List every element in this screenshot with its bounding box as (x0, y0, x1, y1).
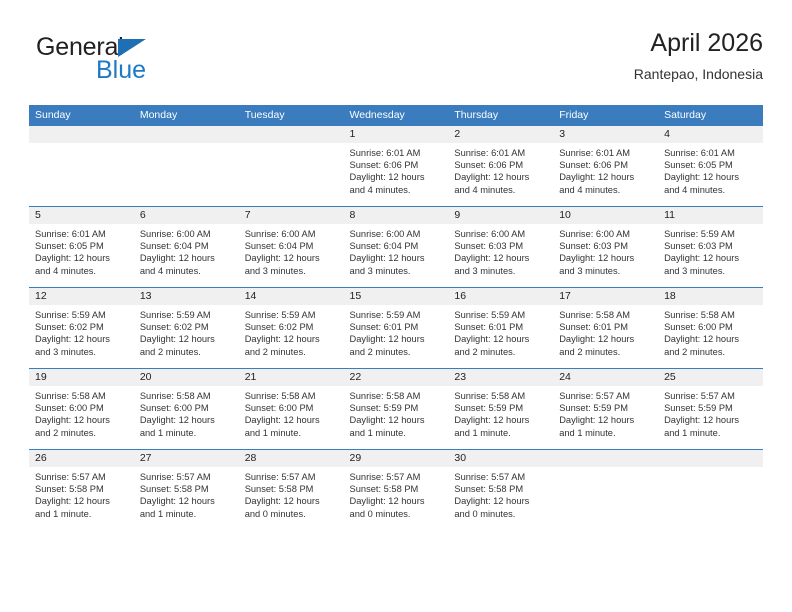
day-number: 9 (448, 207, 553, 224)
calendar-day-cell[interactable]: 9Sunrise: 6:00 AMSunset: 6:03 PMDaylight… (448, 207, 553, 288)
day-cell-content: 30Sunrise: 5:57 AMSunset: 5:58 PMDayligh… (448, 450, 553, 530)
day-cell-content: 4Sunrise: 6:01 AMSunset: 6:05 PMDaylight… (658, 126, 763, 206)
day-number: 11 (658, 207, 763, 224)
day-sun-info: Sunrise: 5:59 AMSunset: 6:02 PMDaylight:… (239, 305, 344, 358)
sunset-time: Sunset: 6:03 PM (664, 240, 756, 252)
page-title: April 2026 (634, 28, 763, 58)
day-sun-info: Sunrise: 6:01 AMSunset: 6:06 PMDaylight:… (344, 143, 449, 196)
daylight-duration-line1: Daylight: 12 hours (559, 333, 651, 345)
daylight-duration-line2: and 2 minutes. (350, 346, 442, 358)
daylight-duration-line1: Daylight: 12 hours (664, 333, 756, 345)
day-sun-info: Sunrise: 5:58 AMSunset: 6:00 PMDaylight:… (29, 386, 134, 439)
day-number: 25 (658, 369, 763, 386)
day-cell-content: 7Sunrise: 6:00 AMSunset: 6:04 PMDaylight… (239, 207, 344, 287)
sunset-time: Sunset: 5:58 PM (350, 483, 442, 495)
sunset-time: Sunset: 6:00 PM (35, 402, 127, 414)
calendar-day-cell[interactable]: 28Sunrise: 5:57 AMSunset: 5:58 PMDayligh… (239, 450, 344, 531)
sunset-time: Sunset: 6:04 PM (350, 240, 442, 252)
day-cell-content: 16Sunrise: 5:59 AMSunset: 6:01 PMDayligh… (448, 288, 553, 368)
sunset-time: Sunset: 6:03 PM (454, 240, 546, 252)
logo-text-blue: Blue (96, 57, 146, 83)
daylight-duration-line1: Daylight: 12 hours (350, 495, 442, 507)
day-cell-content: 14Sunrise: 5:59 AMSunset: 6:02 PMDayligh… (239, 288, 344, 368)
calendar-day-cell[interactable]: 1Sunrise: 6:01 AMSunset: 6:06 PMDaylight… (344, 126, 449, 207)
day-number: 19 (29, 369, 134, 386)
day-sun-info: Sunrise: 6:01 AMSunset: 6:05 PMDaylight:… (29, 224, 134, 277)
day-cell-content: 13Sunrise: 5:59 AMSunset: 6:02 PMDayligh… (134, 288, 239, 368)
day-sun-info: Sunrise: 6:00 AMSunset: 6:04 PMDaylight:… (239, 224, 344, 277)
sunset-time: Sunset: 5:59 PM (350, 402, 442, 414)
day-number: 26 (29, 450, 134, 467)
day-cell-content: 22Sunrise: 5:58 AMSunset: 5:59 PMDayligh… (344, 369, 449, 449)
sunrise-time: Sunrise: 6:00 AM (245, 228, 337, 240)
daylight-duration-line1: Daylight: 12 hours (245, 333, 337, 345)
day-cell-content: 23Sunrise: 5:58 AMSunset: 5:59 PMDayligh… (448, 369, 553, 449)
daylight-duration-line1: Daylight: 12 hours (245, 414, 337, 426)
day-number: 28 (239, 450, 344, 467)
daylight-duration-line2: and 4 minutes. (140, 265, 232, 277)
daylight-duration-line2: and 1 minute. (664, 427, 756, 439)
daylight-duration-line2: and 3 minutes. (245, 265, 337, 277)
calendar-day-cell[interactable]: 25Sunrise: 5:57 AMSunset: 5:59 PMDayligh… (658, 369, 763, 450)
daylight-duration-line2: and 4 minutes. (454, 184, 546, 196)
day-cell-content: 8Sunrise: 6:00 AMSunset: 6:04 PMDaylight… (344, 207, 449, 287)
sunrise-time: Sunrise: 6:01 AM (350, 147, 442, 159)
day-sun-info: Sunrise: 5:58 AMSunset: 6:00 PMDaylight:… (239, 386, 344, 439)
daylight-duration-line1: Daylight: 12 hours (454, 333, 546, 345)
day-sun-info: Sunrise: 5:57 AMSunset: 5:59 PMDaylight:… (658, 386, 763, 439)
sunrise-time: Sunrise: 5:58 AM (35, 390, 127, 402)
calendar-day-cell[interactable]: 10Sunrise: 6:00 AMSunset: 6:03 PMDayligh… (553, 207, 658, 288)
daylight-duration-line1: Daylight: 12 hours (454, 171, 546, 183)
day-cell-content: 19Sunrise: 5:58 AMSunset: 6:00 PMDayligh… (29, 369, 134, 449)
day-number: 30 (448, 450, 553, 467)
daylight-duration-line2: and 2 minutes. (454, 346, 546, 358)
daylight-duration-line1: Daylight: 12 hours (35, 252, 127, 264)
day-number: 12 (29, 288, 134, 305)
calendar-day-cell[interactable]: 8Sunrise: 6:00 AMSunset: 6:04 PMDaylight… (344, 207, 449, 288)
calendar-header-row-group: Sunday Monday Tuesday Wednesday Thursday… (29, 105, 763, 126)
day-cell-content (134, 126, 239, 206)
daylight-duration-line1: Daylight: 12 hours (140, 414, 232, 426)
daylight-duration-line1: Daylight: 12 hours (35, 333, 127, 345)
sunrise-time: Sunrise: 5:57 AM (350, 471, 442, 483)
page-header: General Blue April 2026 Rantepao, Indone… (29, 28, 763, 100)
sunset-time: Sunset: 6:03 PM (559, 240, 651, 252)
sunset-time: Sunset: 6:00 PM (664, 321, 756, 333)
daylight-duration-line1: Daylight: 12 hours (35, 495, 127, 507)
sunrise-time: Sunrise: 5:59 AM (35, 309, 127, 321)
calendar-day-cell[interactable]: 30Sunrise: 5:57 AMSunset: 5:58 PMDayligh… (448, 450, 553, 531)
sunrise-time: Sunrise: 6:01 AM (664, 147, 756, 159)
calendar-week-row: 26Sunrise: 5:57 AMSunset: 5:58 PMDayligh… (29, 450, 763, 531)
day-cell-content (553, 450, 658, 530)
weekday-header-row: Sunday Monday Tuesday Wednesday Thursday… (29, 105, 763, 126)
daylight-duration-line1: Daylight: 12 hours (454, 495, 546, 507)
daylight-duration-line2: and 2 minutes. (35, 427, 127, 439)
daylight-duration-line2: and 3 minutes. (664, 265, 756, 277)
sunrise-time: Sunrise: 5:59 AM (664, 228, 756, 240)
day-number: 18 (658, 288, 763, 305)
sunrise-time: Sunrise: 5:59 AM (454, 309, 546, 321)
sunrise-time: Sunrise: 5:59 AM (140, 309, 232, 321)
calendar-week-row: 5Sunrise: 6:01 AMSunset: 6:05 PMDaylight… (29, 207, 763, 288)
day-sun-info: Sunrise: 5:57 AMSunset: 5:58 PMDaylight:… (239, 467, 344, 520)
day-cell-content: 6Sunrise: 6:00 AMSunset: 6:04 PMDaylight… (134, 207, 239, 287)
day-cell-content: 11Sunrise: 5:59 AMSunset: 6:03 PMDayligh… (658, 207, 763, 287)
sunrise-time: Sunrise: 5:57 AM (140, 471, 232, 483)
sunset-time: Sunset: 6:00 PM (245, 402, 337, 414)
sunrise-time: Sunrise: 6:01 AM (454, 147, 546, 159)
calendar-week-row: 19Sunrise: 5:58 AMSunset: 6:00 PMDayligh… (29, 369, 763, 450)
calendar-day-cell[interactable]: 17Sunrise: 5:58 AMSunset: 6:01 PMDayligh… (553, 288, 658, 369)
sunset-time: Sunset: 6:06 PM (454, 159, 546, 171)
day-sun-info: Sunrise: 5:57 AMSunset: 5:58 PMDaylight:… (29, 467, 134, 520)
day-sun-info: Sunrise: 6:00 AMSunset: 6:04 PMDaylight:… (134, 224, 239, 277)
calendar-day-cell[interactable]: 18Sunrise: 5:58 AMSunset: 6:00 PMDayligh… (658, 288, 763, 369)
day-cell-content: 18Sunrise: 5:58 AMSunset: 6:00 PMDayligh… (658, 288, 763, 368)
sunrise-time: Sunrise: 6:01 AM (559, 147, 651, 159)
day-sun-info: Sunrise: 6:01 AMSunset: 6:06 PMDaylight:… (553, 143, 658, 196)
calendar-day-cell[interactable]: 13Sunrise: 5:59 AMSunset: 6:02 PMDayligh… (134, 288, 239, 369)
day-sun-info: Sunrise: 5:58 AMSunset: 6:01 PMDaylight:… (553, 305, 658, 358)
sunrise-time: Sunrise: 5:58 AM (664, 309, 756, 321)
day-number (239, 126, 344, 143)
day-cell-content: 20Sunrise: 5:58 AMSunset: 6:00 PMDayligh… (134, 369, 239, 449)
day-sun-info: Sunrise: 5:58 AMSunset: 5:59 PMDaylight:… (448, 386, 553, 439)
daylight-duration-line1: Daylight: 12 hours (350, 252, 442, 264)
day-number: 21 (239, 369, 344, 386)
title-block: April 2026 Rantepao, Indonesia (634, 28, 763, 84)
day-sun-info (134, 143, 239, 147)
day-number: 22 (344, 369, 449, 386)
day-cell-content: 21Sunrise: 5:58 AMSunset: 6:00 PMDayligh… (239, 369, 344, 449)
day-sun-info: Sunrise: 6:00 AMSunset: 6:04 PMDaylight:… (344, 224, 449, 277)
sunrise-time: Sunrise: 6:01 AM (35, 228, 127, 240)
day-cell-content: 1Sunrise: 6:01 AMSunset: 6:06 PMDaylight… (344, 126, 449, 206)
weekday-header-saturday: Saturday (658, 105, 763, 126)
sunset-time: Sunset: 5:59 PM (454, 402, 546, 414)
calendar-day-cell[interactable]: 19Sunrise: 5:58 AMSunset: 6:00 PMDayligh… (29, 369, 134, 450)
day-cell-content: 24Sunrise: 5:57 AMSunset: 5:59 PMDayligh… (553, 369, 658, 449)
sunrise-time: Sunrise: 5:57 AM (245, 471, 337, 483)
sunrise-time: Sunrise: 5:57 AM (664, 390, 756, 402)
daylight-duration-line2: and 4 minutes. (559, 184, 651, 196)
sunset-time: Sunset: 5:58 PM (454, 483, 546, 495)
day-sun-info (29, 143, 134, 147)
day-number: 13 (134, 288, 239, 305)
day-sun-info: Sunrise: 5:59 AMSunset: 6:02 PMDaylight:… (134, 305, 239, 358)
sunset-time: Sunset: 5:58 PM (245, 483, 337, 495)
weekday-header-monday: Monday (134, 105, 239, 126)
day-cell-content (239, 126, 344, 206)
day-sun-info: Sunrise: 5:59 AMSunset: 6:01 PMDaylight:… (344, 305, 449, 358)
calendar-day-cell[interactable]: 2Sunrise: 6:01 AMSunset: 6:06 PMDaylight… (448, 126, 553, 207)
calendar-day-cell[interactable]: 6Sunrise: 6:00 AMSunset: 6:04 PMDaylight… (134, 207, 239, 288)
calendar-day-cell[interactable]: 4Sunrise: 6:01 AMSunset: 6:05 PMDaylight… (658, 126, 763, 207)
sunset-time: Sunset: 6:06 PM (559, 159, 651, 171)
day-number: 17 (553, 288, 658, 305)
sunrise-time: Sunrise: 5:57 AM (454, 471, 546, 483)
day-number: 23 (448, 369, 553, 386)
calendar-day-cell (658, 450, 763, 531)
sunset-time: Sunset: 5:58 PM (140, 483, 232, 495)
day-sun-info (553, 467, 658, 471)
day-sun-info: Sunrise: 5:58 AMSunset: 6:00 PMDaylight:… (658, 305, 763, 358)
day-number: 14 (239, 288, 344, 305)
day-cell-content: 15Sunrise: 5:59 AMSunset: 6:01 PMDayligh… (344, 288, 449, 368)
day-cell-content: 26Sunrise: 5:57 AMSunset: 5:58 PMDayligh… (29, 450, 134, 530)
weekday-header-sunday: Sunday (29, 105, 134, 126)
calendar-day-cell[interactable]: 14Sunrise: 5:59 AMSunset: 6:02 PMDayligh… (239, 288, 344, 369)
sunset-time: Sunset: 5:58 PM (35, 483, 127, 495)
daylight-duration-line1: Daylight: 12 hours (35, 414, 127, 426)
sunset-time: Sunset: 6:02 PM (245, 321, 337, 333)
logo-triangle-icon (118, 39, 146, 57)
daylight-duration-line1: Daylight: 12 hours (454, 252, 546, 264)
calendar-day-cell[interactable]: 26Sunrise: 5:57 AMSunset: 5:58 PMDayligh… (29, 450, 134, 531)
calendar-day-cell (239, 126, 344, 207)
day-number (553, 450, 658, 467)
day-sun-info: Sunrise: 6:00 AMSunset: 6:03 PMDaylight:… (448, 224, 553, 277)
calendar-page: General Blue April 2026 Rantepao, Indone… (0, 0, 792, 612)
day-sun-info: Sunrise: 5:57 AMSunset: 5:59 PMDaylight:… (553, 386, 658, 439)
calendar-day-cell[interactable]: 15Sunrise: 5:59 AMSunset: 6:01 PMDayligh… (344, 288, 449, 369)
day-cell-content: 27Sunrise: 5:57 AMSunset: 5:58 PMDayligh… (134, 450, 239, 530)
sunrise-time: Sunrise: 6:00 AM (454, 228, 546, 240)
day-number: 8 (344, 207, 449, 224)
daylight-duration-line2: and 4 minutes. (664, 184, 756, 196)
calendar-day-cell[interactable]: 23Sunrise: 5:58 AMSunset: 5:59 PMDayligh… (448, 369, 553, 450)
sunset-time: Sunset: 5:59 PM (664, 402, 756, 414)
daylight-duration-line2: and 0 minutes. (245, 508, 337, 520)
calendar-day-cell[interactable]: 22Sunrise: 5:58 AMSunset: 5:59 PMDayligh… (344, 369, 449, 450)
general-blue-logo[interactable]: General Blue (36, 34, 236, 90)
day-sun-info: Sunrise: 5:57 AMSunset: 5:58 PMDaylight:… (134, 467, 239, 520)
sunrise-time: Sunrise: 5:58 AM (140, 390, 232, 402)
sunrise-time: Sunrise: 5:58 AM (350, 390, 442, 402)
day-sun-info: Sunrise: 5:58 AMSunset: 6:00 PMDaylight:… (134, 386, 239, 439)
sunrise-time: Sunrise: 5:58 AM (559, 309, 651, 321)
daylight-duration-line1: Daylight: 12 hours (350, 414, 442, 426)
sunset-time: Sunset: 6:01 PM (454, 321, 546, 333)
calendar-day-cell[interactable]: 29Sunrise: 5:57 AMSunset: 5:58 PMDayligh… (344, 450, 449, 531)
daylight-duration-line1: Daylight: 12 hours (664, 252, 756, 264)
sunset-time: Sunset: 6:02 PM (35, 321, 127, 333)
daylight-duration-line2: and 1 minute. (140, 427, 232, 439)
day-number: 15 (344, 288, 449, 305)
sunset-time: Sunset: 5:59 PM (559, 402, 651, 414)
day-sun-info: Sunrise: 5:59 AMSunset: 6:02 PMDaylight:… (29, 305, 134, 358)
weekday-header-tuesday: Tuesday (239, 105, 344, 126)
daylight-duration-line2: and 2 minutes. (559, 346, 651, 358)
sunset-time: Sunset: 6:04 PM (140, 240, 232, 252)
daylight-duration-line1: Daylight: 12 hours (350, 333, 442, 345)
sunset-time: Sunset: 6:06 PM (350, 159, 442, 171)
day-cell-content: 17Sunrise: 5:58 AMSunset: 6:01 PMDayligh… (553, 288, 658, 368)
daylight-duration-line1: Daylight: 12 hours (559, 414, 651, 426)
sunrise-sunset-calendar-table: Sunday Monday Tuesday Wednesday Thursday… (29, 105, 763, 530)
sunrise-time: Sunrise: 6:00 AM (350, 228, 442, 240)
daylight-duration-line1: Daylight: 12 hours (140, 333, 232, 345)
day-sun-info: Sunrise: 5:59 AMSunset: 6:03 PMDaylight:… (658, 224, 763, 277)
daylight-duration-line1: Daylight: 12 hours (559, 252, 651, 264)
calendar-day-cell[interactable]: 20Sunrise: 5:58 AMSunset: 6:00 PMDayligh… (134, 369, 239, 450)
sunrise-time: Sunrise: 5:58 AM (454, 390, 546, 402)
calendar-day-cell[interactable]: 21Sunrise: 5:58 AMSunset: 6:00 PMDayligh… (239, 369, 344, 450)
day-number: 3 (553, 126, 658, 143)
day-cell-content: 5Sunrise: 6:01 AMSunset: 6:05 PMDaylight… (29, 207, 134, 287)
calendar-week-row: 1Sunrise: 6:01 AMSunset: 6:06 PMDaylight… (29, 126, 763, 207)
sunset-time: Sunset: 6:05 PM (35, 240, 127, 252)
day-sun-info: Sunrise: 5:57 AMSunset: 5:58 PMDaylight:… (448, 467, 553, 520)
day-number: 2 (448, 126, 553, 143)
weekday-header-friday: Friday (553, 105, 658, 126)
calendar-day-cell[interactable]: 27Sunrise: 5:57 AMSunset: 5:58 PMDayligh… (134, 450, 239, 531)
daylight-duration-line2: and 0 minutes. (454, 508, 546, 520)
day-number: 7 (239, 207, 344, 224)
day-cell-content: 28Sunrise: 5:57 AMSunset: 5:58 PMDayligh… (239, 450, 344, 530)
day-sun-info: Sunrise: 6:01 AMSunset: 6:05 PMDaylight:… (658, 143, 763, 196)
day-number: 4 (658, 126, 763, 143)
daylight-duration-line2: and 2 minutes. (140, 346, 232, 358)
day-sun-info (239, 143, 344, 147)
calendar-day-cell[interactable]: 12Sunrise: 5:59 AMSunset: 6:02 PMDayligh… (29, 288, 134, 369)
day-number: 6 (134, 207, 239, 224)
calendar-day-cell[interactable]: 11Sunrise: 5:59 AMSunset: 6:03 PMDayligh… (658, 207, 763, 288)
daylight-duration-line2: and 3 minutes. (559, 265, 651, 277)
day-sun-info: Sunrise: 5:59 AMSunset: 6:01 PMDaylight:… (448, 305, 553, 358)
day-cell-content: 12Sunrise: 5:59 AMSunset: 6:02 PMDayligh… (29, 288, 134, 368)
day-number (658, 450, 763, 467)
daylight-duration-line1: Daylight: 12 hours (140, 495, 232, 507)
sunrise-time: Sunrise: 5:57 AM (559, 390, 651, 402)
page-subtitle-location: Rantepao, Indonesia (634, 64, 763, 84)
day-cell-content: 10Sunrise: 6:00 AMSunset: 6:03 PMDayligh… (553, 207, 658, 287)
day-cell-content: 3Sunrise: 6:01 AMSunset: 6:06 PMDaylight… (553, 126, 658, 206)
daylight-duration-line2: and 3 minutes. (350, 265, 442, 277)
daylight-duration-line2: and 0 minutes. (350, 508, 442, 520)
daylight-duration-line1: Daylight: 12 hours (454, 414, 546, 426)
day-cell-content: 25Sunrise: 5:57 AMSunset: 5:59 PMDayligh… (658, 369, 763, 449)
day-sun-info: Sunrise: 5:58 AMSunset: 5:59 PMDaylight:… (344, 386, 449, 439)
sunrise-time: Sunrise: 5:59 AM (350, 309, 442, 321)
sunset-time: Sunset: 6:02 PM (140, 321, 232, 333)
day-number: 5 (29, 207, 134, 224)
day-sun-info: Sunrise: 5:57 AMSunset: 5:58 PMDaylight:… (344, 467, 449, 520)
daylight-duration-line2: and 2 minutes. (664, 346, 756, 358)
daylight-duration-line2: and 3 minutes. (454, 265, 546, 277)
daylight-duration-line2: and 1 minute. (454, 427, 546, 439)
day-number: 1 (344, 126, 449, 143)
daylight-duration-line1: Daylight: 12 hours (245, 495, 337, 507)
weekday-header-thursday: Thursday (448, 105, 553, 126)
calendar-day-cell[interactable]: 24Sunrise: 5:57 AMSunset: 5:59 PMDayligh… (553, 369, 658, 450)
calendar-day-cell[interactable]: 7Sunrise: 6:00 AMSunset: 6:04 PMDaylight… (239, 207, 344, 288)
sunset-time: Sunset: 6:01 PM (559, 321, 651, 333)
weekday-header-wednesday: Wednesday (344, 105, 449, 126)
day-number (29, 126, 134, 143)
day-number: 16 (448, 288, 553, 305)
sunrise-time: Sunrise: 5:58 AM (245, 390, 337, 402)
sunset-time: Sunset: 6:04 PM (245, 240, 337, 252)
daylight-duration-line2: and 1 minute. (35, 508, 127, 520)
calendar-day-cell (29, 126, 134, 207)
calendar-day-cell (553, 450, 658, 531)
daylight-duration-line1: Daylight: 12 hours (664, 171, 756, 183)
sunrise-time: Sunrise: 5:57 AM (35, 471, 127, 483)
day-sun-info: Sunrise: 6:00 AMSunset: 6:03 PMDaylight:… (553, 224, 658, 277)
calendar-day-cell[interactable]: 5Sunrise: 6:01 AMSunset: 6:05 PMDaylight… (29, 207, 134, 288)
daylight-duration-line2: and 4 minutes. (350, 184, 442, 196)
sunset-time: Sunset: 6:00 PM (140, 402, 232, 414)
sunset-time: Sunset: 6:01 PM (350, 321, 442, 333)
daylight-duration-line1: Daylight: 12 hours (245, 252, 337, 264)
daylight-duration-line2: and 3 minutes. (35, 346, 127, 358)
day-cell-content: 9Sunrise: 6:00 AMSunset: 6:03 PMDaylight… (448, 207, 553, 287)
sunset-time: Sunset: 6:05 PM (664, 159, 756, 171)
day-cell-content: 29Sunrise: 5:57 AMSunset: 5:58 PMDayligh… (344, 450, 449, 530)
daylight-duration-line1: Daylight: 12 hours (559, 171, 651, 183)
daylight-duration-line2: and 1 minute. (245, 427, 337, 439)
calendar-week-row: 12Sunrise: 5:59 AMSunset: 6:02 PMDayligh… (29, 288, 763, 369)
day-sun-info: Sunrise: 6:01 AMSunset: 6:06 PMDaylight:… (448, 143, 553, 196)
day-cell-content (658, 450, 763, 530)
sunrise-time: Sunrise: 6:00 AM (559, 228, 651, 240)
calendar-body: 1Sunrise: 6:01 AMSunset: 6:06 PMDaylight… (29, 126, 763, 530)
day-number: 20 (134, 369, 239, 386)
daylight-duration-line1: Daylight: 12 hours (140, 252, 232, 264)
daylight-duration-line2: and 1 minute. (350, 427, 442, 439)
daylight-duration-line2: and 1 minute. (559, 427, 651, 439)
calendar-day-cell[interactable]: 3Sunrise: 6:01 AMSunset: 6:06 PMDaylight… (553, 126, 658, 207)
daylight-duration-line2: and 2 minutes. (245, 346, 337, 358)
daylight-duration-line1: Daylight: 12 hours (350, 171, 442, 183)
daylight-duration-line2: and 1 minute. (140, 508, 232, 520)
daylight-duration-line1: Daylight: 12 hours (664, 414, 756, 426)
day-number (134, 126, 239, 143)
day-number: 24 (553, 369, 658, 386)
daylight-duration-line2: and 4 minutes. (35, 265, 127, 277)
day-number: 10 (553, 207, 658, 224)
day-cell-content: 2Sunrise: 6:01 AMSunset: 6:06 PMDaylight… (448, 126, 553, 206)
day-number: 27 (134, 450, 239, 467)
sunrise-time: Sunrise: 5:59 AM (245, 309, 337, 321)
sunrise-time: Sunrise: 6:00 AM (140, 228, 232, 240)
calendar-day-cell (134, 126, 239, 207)
calendar-day-cell[interactable]: 16Sunrise: 5:59 AMSunset: 6:01 PMDayligh… (448, 288, 553, 369)
day-cell-content (29, 126, 134, 206)
day-sun-info (658, 467, 763, 471)
day-number: 29 (344, 450, 449, 467)
